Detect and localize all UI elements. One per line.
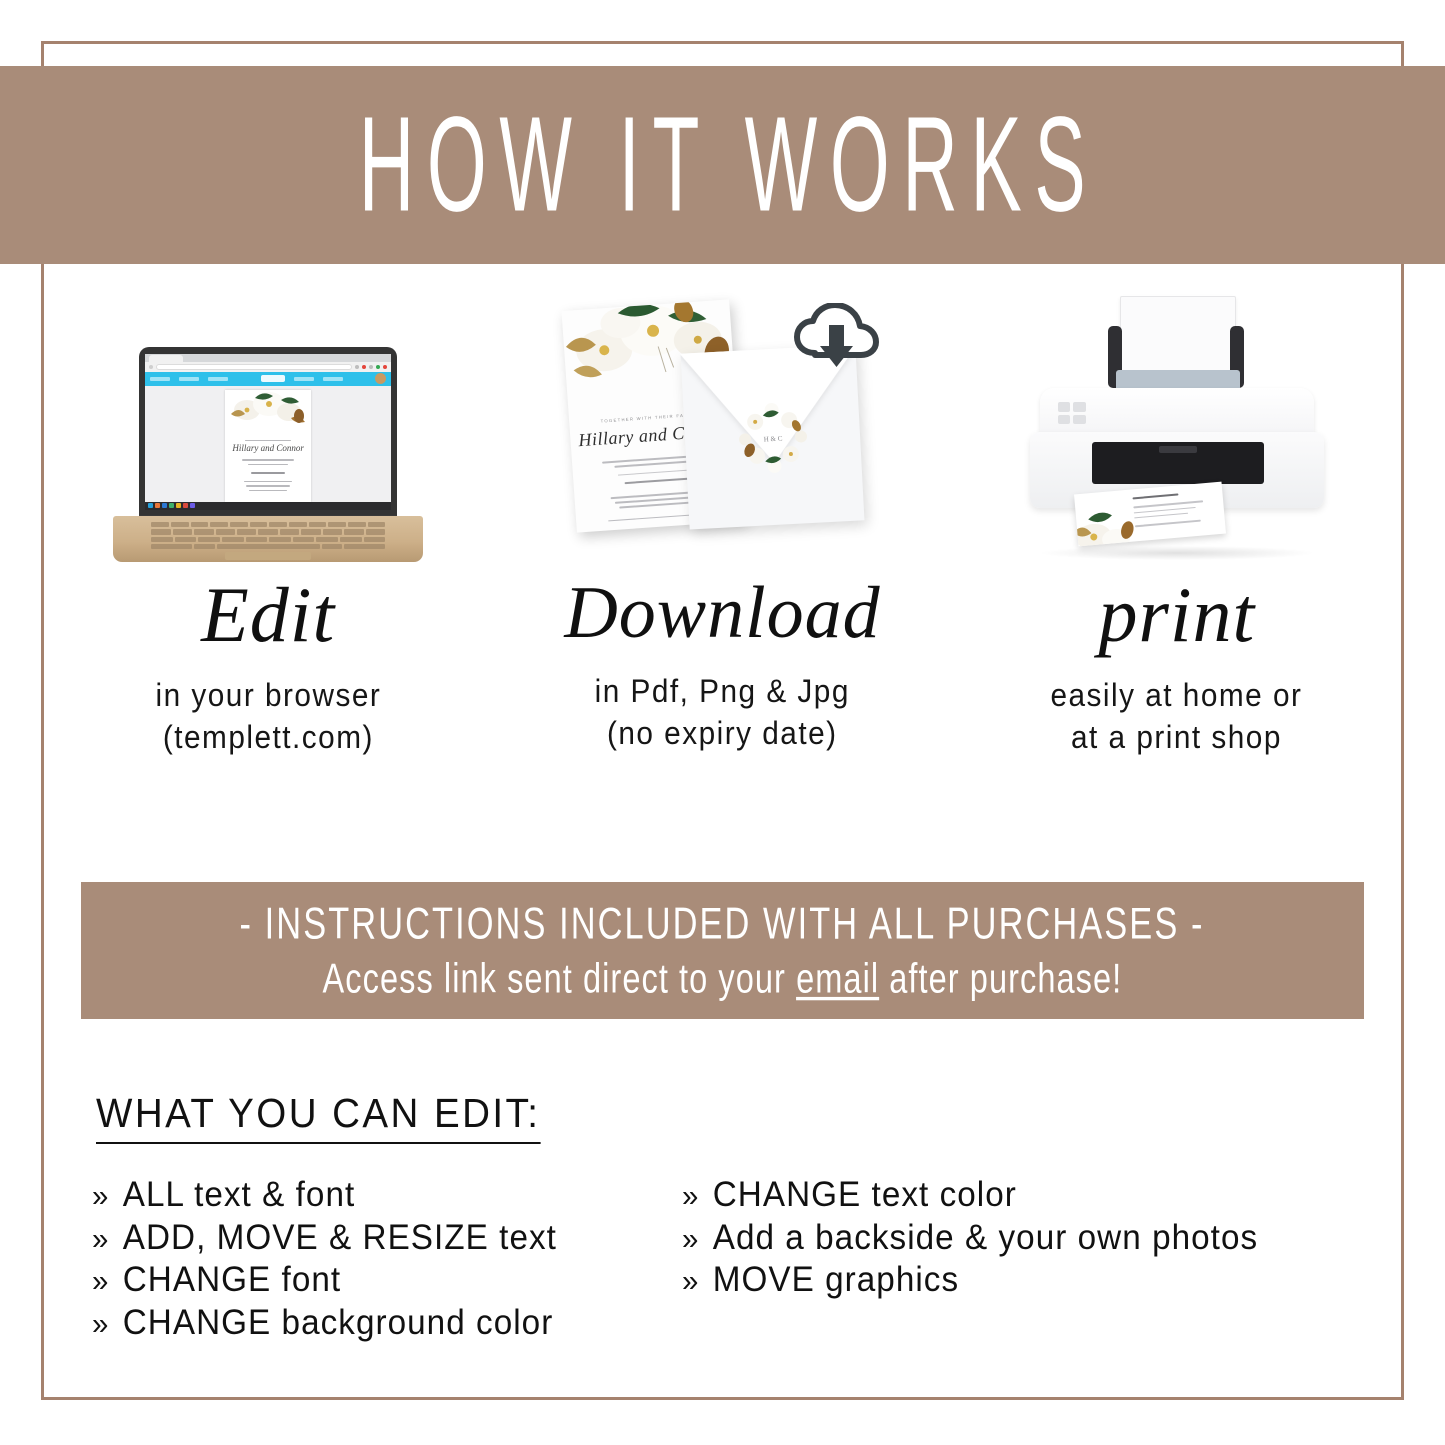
step-script-label-print: print bbox=[1098, 576, 1255, 654]
list-item-label: CHANGE text color bbox=[713, 1175, 1017, 1214]
what-you-can-edit-heading: WHAT YOU CAN EDIT: bbox=[96, 1090, 540, 1144]
output-tray-tab bbox=[1159, 446, 1197, 453]
extension-icon-green bbox=[376, 365, 380, 369]
laptop-screen: Hillary and Connor bbox=[145, 354, 391, 510]
reload-icon bbox=[149, 365, 153, 369]
instructions-subline-before: Access link sent direct to your bbox=[323, 955, 797, 1001]
bullet-icon: » bbox=[92, 1178, 109, 1213]
user-avatar bbox=[375, 373, 386, 384]
list-item-label: CHANGE font bbox=[123, 1260, 341, 1299]
steps-row: Hillary and Connor bbox=[41, 282, 1404, 812]
bullet-icon: » bbox=[682, 1263, 699, 1298]
editable-features-lists: »ALL text & font »ADD, MOVE & RESIZE tex… bbox=[92, 1174, 1382, 1345]
how-it-works-infographic: HOW IT WORKS bbox=[0, 0, 1445, 1445]
menu-item-save bbox=[294, 377, 314, 381]
keyboard-row bbox=[151, 537, 385, 542]
bullet-icon: » bbox=[682, 1178, 699, 1213]
printer-output-slot bbox=[1092, 442, 1264, 484]
list-item: »CHANGE background color bbox=[92, 1302, 653, 1345]
new-tab-icon bbox=[185, 355, 192, 362]
floral-graphic-icon bbox=[225, 390, 311, 434]
list-item: »ADD, MOVE & RESIZE text bbox=[92, 1217, 653, 1260]
step-print: print easily at home or at a print shop bbox=[950, 282, 1404, 812]
keyboard-row bbox=[151, 544, 385, 549]
tab-close-icon bbox=[194, 355, 201, 362]
floral-wreath-icon: H & C bbox=[734, 399, 812, 477]
keyboard-row bbox=[151, 522, 385, 527]
invitation-and-envelope: TOGETHER WITH THEIR FAMILIES Hillary and… bbox=[557, 297, 887, 562]
list-item: »CHANGE font bbox=[92, 1259, 653, 1302]
templett-app-toolbar bbox=[145, 372, 391, 386]
menu-item-help bbox=[323, 377, 343, 381]
editor-canvas: Hillary and Connor bbox=[145, 386, 391, 502]
list-item-label: Add a backside & your own photos bbox=[713, 1218, 1258, 1257]
bullet-icon: » bbox=[92, 1221, 109, 1256]
download-button bbox=[261, 375, 285, 382]
browser-tab-strip bbox=[145, 354, 391, 362]
keyboard-row bbox=[151, 529, 385, 534]
printer-button bbox=[1073, 415, 1086, 425]
editable-features-right-column: »CHANGE text color »Add a backside & you… bbox=[682, 1174, 1382, 1345]
laptop-keyboard bbox=[151, 522, 385, 549]
extension-icon-red bbox=[362, 365, 366, 369]
bullet-icon: » bbox=[682, 1221, 699, 1256]
list-item: »ALL text & font bbox=[92, 1174, 653, 1217]
list-item-label: ADD, MOVE & RESIZE text bbox=[123, 1218, 557, 1257]
step-edit: Hillary and Connor bbox=[41, 282, 495, 812]
page-title: HOW IT WORKS bbox=[346, 97, 1098, 232]
printer-illustration bbox=[950, 282, 1404, 562]
printer-button bbox=[1058, 402, 1071, 412]
laptop-device: Hillary and Connor bbox=[113, 347, 423, 562]
windows-taskbar bbox=[145, 502, 391, 510]
instructions-banner: - INSTRUCTIONS INCLUDED WITH ALL PURCHAS… bbox=[81, 882, 1364, 1019]
list-item: »CHANGE text color bbox=[682, 1174, 1347, 1217]
svg-text:H & C: H & C bbox=[764, 434, 783, 443]
url-input bbox=[156, 364, 352, 370]
cloud-download-icon bbox=[793, 303, 879, 375]
menu-item-file bbox=[150, 377, 170, 381]
invitation-preview: Hillary and Connor bbox=[225, 390, 311, 502]
list-item: »Add a backside & your own photos bbox=[682, 1217, 1347, 1260]
printer-control-panel bbox=[1058, 402, 1086, 424]
laptop-base bbox=[113, 516, 423, 562]
step-caption-edit: in your browser (templett.com) bbox=[155, 674, 381, 758]
menu-item-view bbox=[208, 377, 228, 381]
list-item-label: MOVE graphics bbox=[713, 1260, 959, 1299]
laptop-lid: Hillary and Connor bbox=[139, 347, 397, 519]
step-script-label-download: Download bbox=[564, 576, 880, 650]
instructions-subline: Access link sent direct to your email af… bbox=[323, 955, 1123, 1002]
list-item: »MOVE graphics bbox=[682, 1259, 1347, 1302]
printer-button bbox=[1058, 415, 1071, 425]
laptop-trackpad bbox=[225, 552, 311, 560]
browser-address-bar bbox=[145, 362, 391, 371]
email-link[interactable]: email bbox=[796, 955, 879, 1001]
browser-tab bbox=[149, 355, 183, 362]
profile-icon bbox=[383, 365, 387, 369]
extension-icon-gray bbox=[369, 365, 373, 369]
bookmark-icon bbox=[355, 365, 359, 369]
menu-item-edit bbox=[179, 377, 199, 381]
list-item-label: CHANGE background color bbox=[123, 1303, 554, 1342]
instructions-subline-after: after purchase! bbox=[879, 955, 1122, 1001]
bullet-icon: » bbox=[92, 1263, 109, 1298]
title-banner: HOW IT WORKS bbox=[0, 66, 1445, 264]
printer-device bbox=[1012, 292, 1342, 562]
list-item-label: ALL text & font bbox=[123, 1175, 356, 1214]
download-illustration: TOGETHER WITH THEIR FAMILIES Hillary and… bbox=[495, 282, 949, 562]
editable-features-left-column: »ALL text & font »ADD, MOVE & RESIZE tex… bbox=[92, 1174, 682, 1345]
instructions-headline: - INSTRUCTIONS INCLUDED WITH ALL PURCHAS… bbox=[240, 899, 1205, 949]
laptop-illustration: Hillary and Connor bbox=[41, 282, 495, 562]
step-caption-download: in Pdf, Png & Jpg (no expiry date) bbox=[595, 670, 850, 754]
step-caption-print: easily at home or at a print shop bbox=[1051, 674, 1303, 758]
printer-button bbox=[1073, 402, 1086, 412]
bullet-icon: » bbox=[92, 1306, 109, 1341]
step-download: TOGETHER WITH THEIR FAMILIES Hillary and… bbox=[495, 282, 949, 812]
printer-shadow bbox=[1042, 546, 1312, 560]
step-script-label-edit: Edit bbox=[201, 576, 335, 654]
